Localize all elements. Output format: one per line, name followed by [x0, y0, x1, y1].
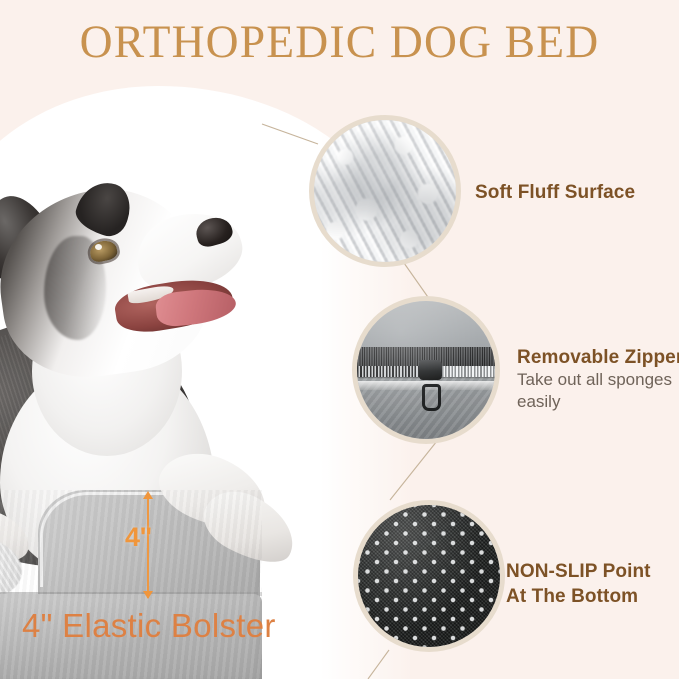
- feature-label-non-slip-line2: At The Bottom: [506, 586, 638, 608]
- feature-swatch-soft-fluff[interactable]: [309, 115, 461, 267]
- dimension-arrow-up-icon: [143, 491, 153, 499]
- zipper-pull-tab: [422, 384, 441, 411]
- page-title: ORTHOPEDIC DOG BED: [10, 14, 669, 70]
- zipper-teeth-left: [357, 366, 420, 377]
- zipper-closeup-icon: [357, 301, 495, 439]
- dimension-arrow-down-icon: [143, 591, 153, 599]
- zipper-teeth-right: [437, 366, 495, 377]
- feature-label-non-slip-line1: NON-SLIP Point: [506, 561, 651, 583]
- zipper-slider: [419, 360, 442, 380]
- feature-sublabel-line1: Take out all sponges: [517, 370, 672, 389]
- non-slip-dot-grid: [358, 505, 500, 647]
- infographic-canvas: ORTHOPEDIC DOG BED 4": [0, 0, 679, 679]
- feature-label-soft-fluff: Soft Fluff Surface: [475, 182, 635, 204]
- plush-fur-texture-icon: [314, 120, 456, 262]
- feature-swatch-removable-zipper[interactable]: [352, 296, 500, 444]
- bolster-caption: 4" Elastic Bolster: [22, 607, 276, 645]
- feature-label-removable-zipper: Removable Zipper: [517, 347, 679, 369]
- dog-eye-glint: [95, 244, 102, 250]
- feature-swatch-non-slip[interactable]: [353, 500, 505, 652]
- dimension-label: 4": [125, 522, 152, 553]
- feature-sublabel-removable-zipper: Take out all spongeseasily: [517, 369, 672, 413]
- feature-sublabel-line2: easily: [517, 392, 560, 411]
